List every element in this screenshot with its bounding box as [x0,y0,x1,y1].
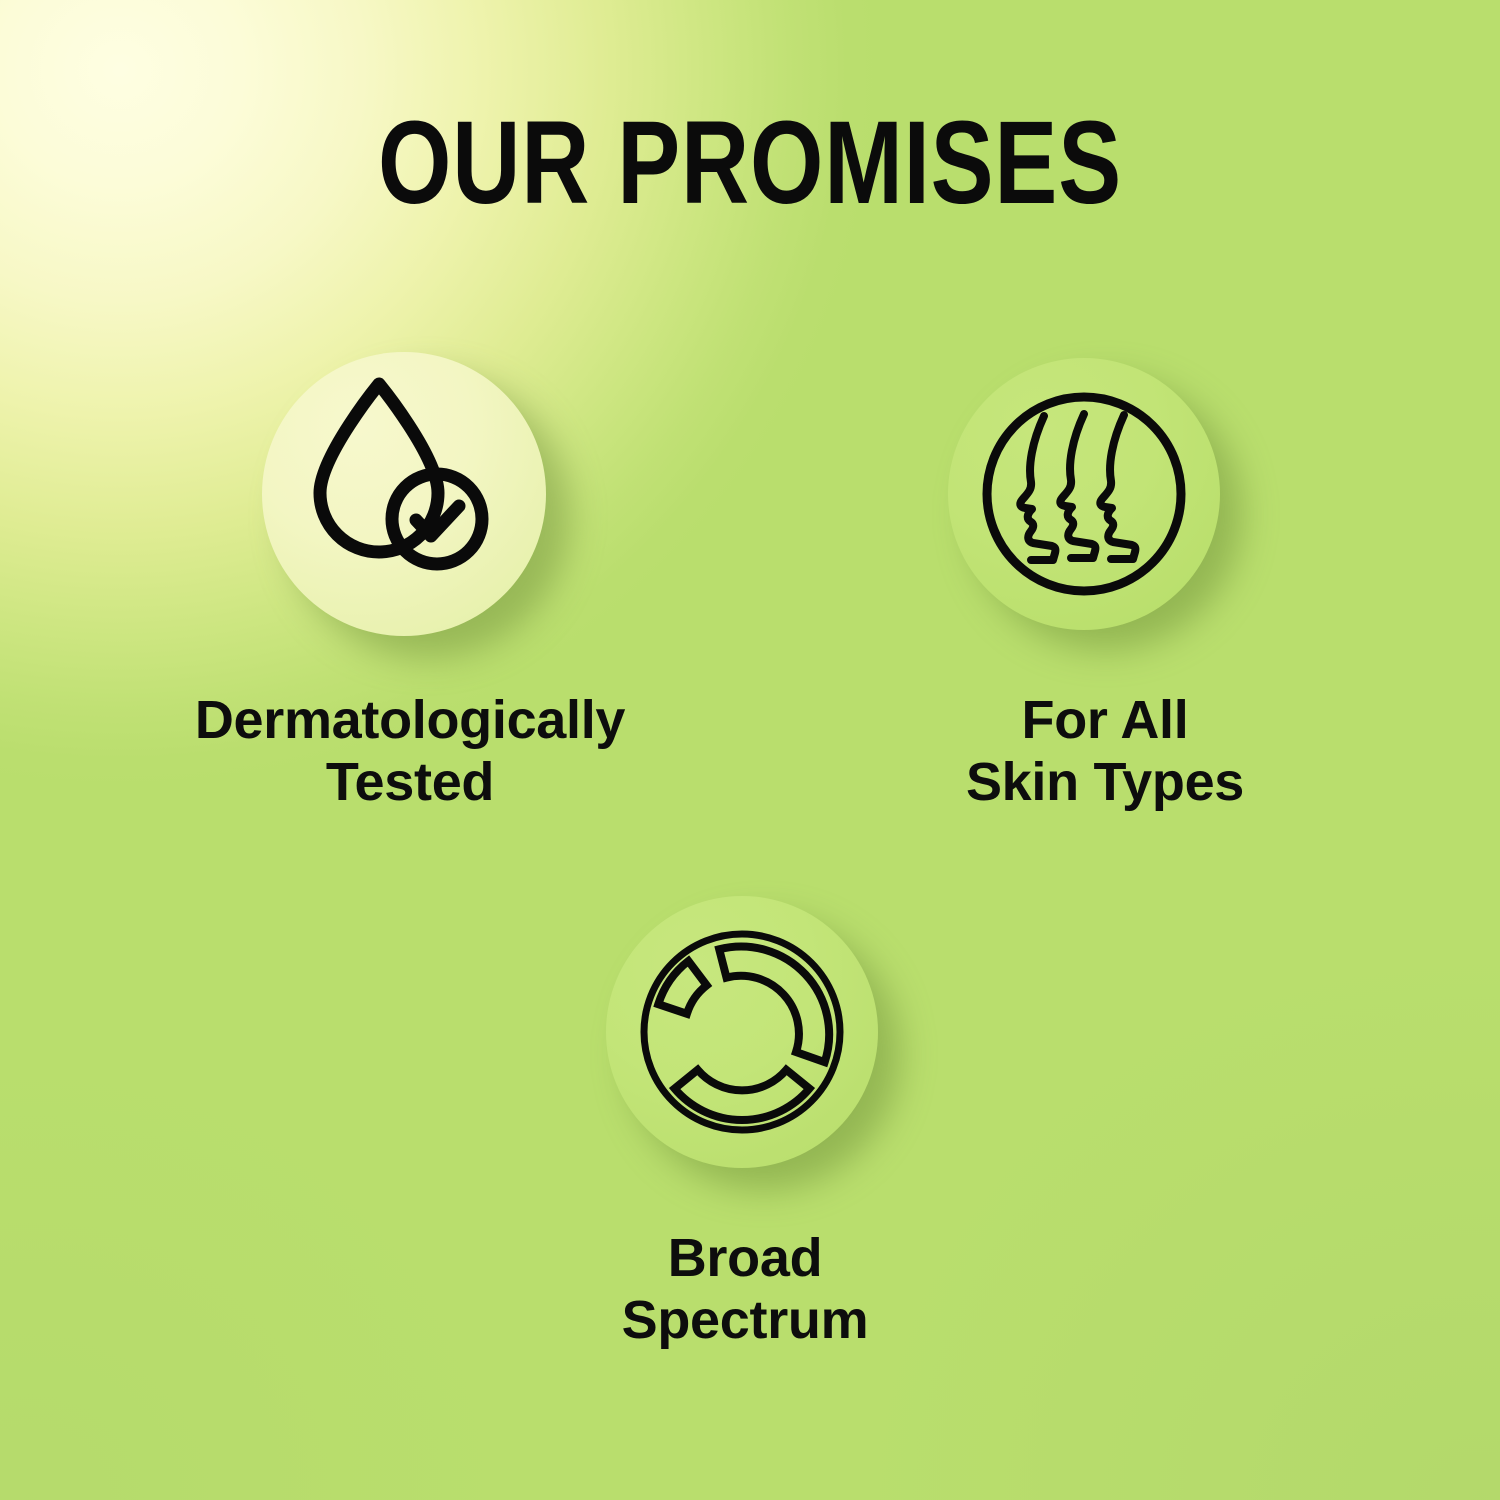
badge-dermatologically-tested [262,352,546,636]
water-drop-check-icon [262,352,546,636]
badge-broad-spectrum [606,896,878,1168]
promise-label-broad-spectrum: Broad Spectrum [530,1228,960,1351]
badge-for-all-skin-types [948,358,1220,630]
promises-infographic: OUR PROMISES Dermatologically Tested [0,0,1500,1500]
page-title: OUR PROMISES [150,104,1350,222]
promise-label-dermatologically-tested: Dermatologically Tested [60,690,760,813]
segmented-ring-icon [606,896,878,1168]
three-face-profiles-icon [948,358,1220,630]
promise-label-for-all-skin-types: For All Skin Types [890,690,1320,813]
